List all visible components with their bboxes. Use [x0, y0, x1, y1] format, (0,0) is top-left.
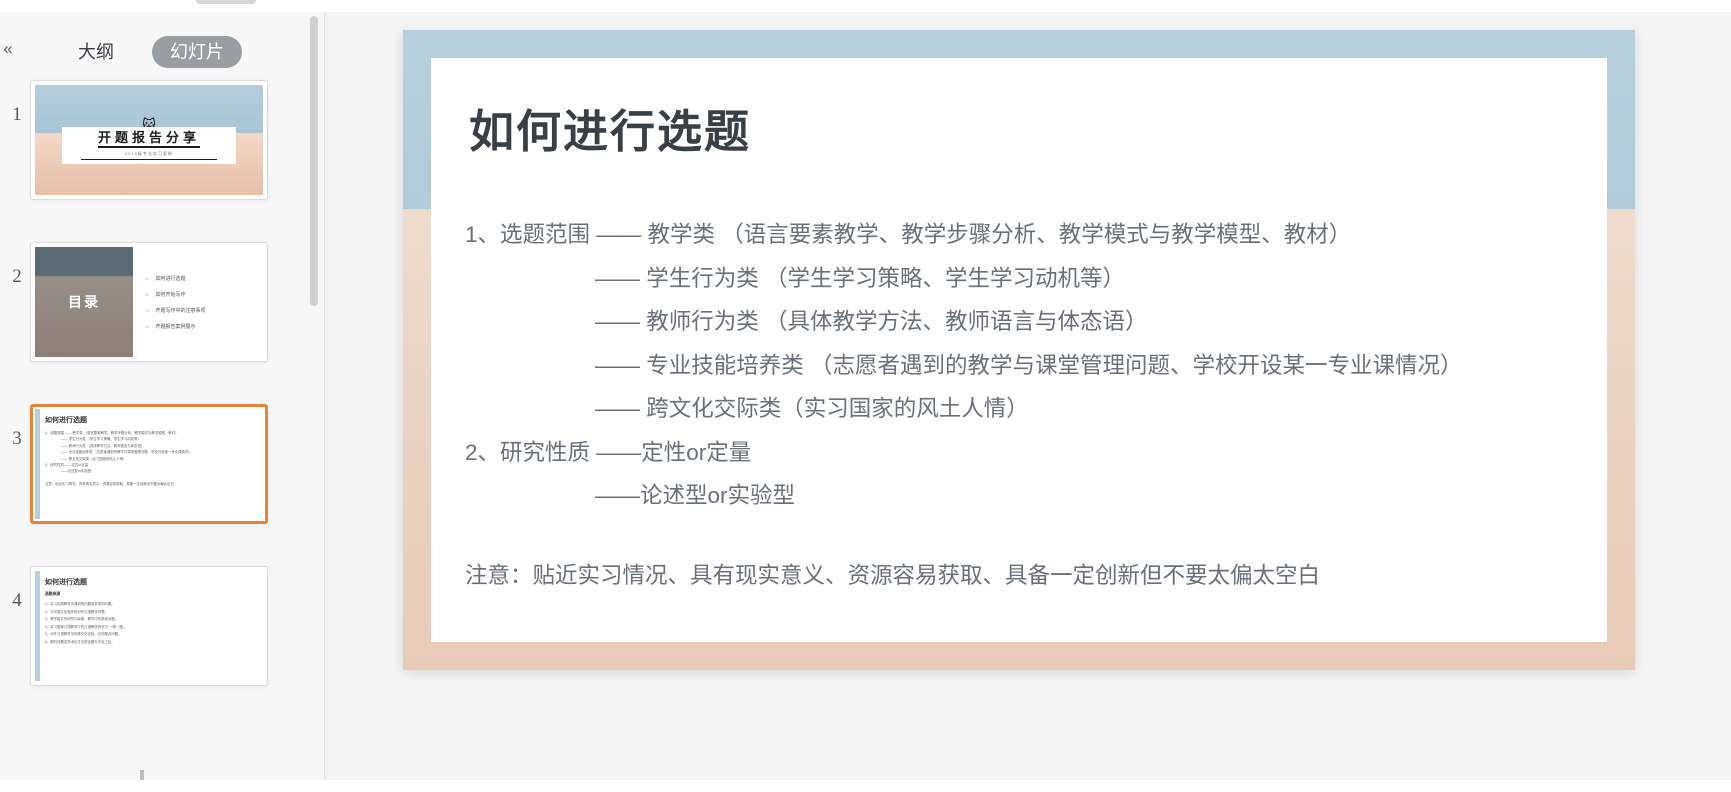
slide-number-4: 4 — [6, 590, 28, 612]
thumb2-left-block: 目录 — [35, 247, 133, 357]
thumb4-title: 如何进行选题 — [45, 577, 257, 587]
body-line: —— 教师行为类 （具体教学方法、教师语言与体态语） — [465, 300, 1587, 344]
body-line: ——论述型or实验型 — [465, 474, 1587, 518]
slide-thumbnail-3[interactable]: 如何进行选题 1、选题范围 —— 教学类 （语言要素教学、教学步骤分析、教学模式… — [30, 404, 268, 524]
panel-bottom-nub — [140, 770, 144, 780]
panel-tab-bar: 大纲 幻灯片 — [60, 36, 242, 68]
thumb4-item: 3、教学模式的研究与探索，教学中的具体问题。 — [45, 616, 257, 624]
panel-scrollbar-thumb[interactable] — [310, 16, 318, 306]
slide-thumbnail-2[interactable]: 目录 01 如何进行选题 02 如何开始写作 03 开题写 — [30, 242, 268, 362]
window-drag-nub — [196, 0, 256, 4]
slide-content-paper: 如何进行选题 1、选题范围 —— 教学类 （语言要素教学、教学步骤分析、教学模式… — [431, 58, 1607, 642]
thumb4-item: 4、实习国家汉语教学中的汉语教学现状与“一带一路”。 — [45, 624, 257, 632]
toc-number: 03 — [145, 308, 149, 313]
thumb3-accent-bar — [35, 409, 40, 519]
body-line: 2、研究性质 ——定性or定量 — [465, 431, 1587, 475]
tab-outline[interactable]: 大纲 — [60, 36, 132, 68]
toc-item: 02 如何开始写作 — [145, 291, 263, 298]
thumb1-title: 开题报告分享 — [98, 130, 200, 148]
toc-label: 开题报告案例展示 — [155, 323, 195, 330]
body-line: —— 跨文化交际类（实习国家的风土人情） — [465, 387, 1587, 431]
slide-number-3: 3 — [6, 428, 28, 450]
body-line: 1、选题范围 —— 教学类 （语言要素教学、教学步骤分析、教学模式与教学模型、教… — [465, 213, 1587, 257]
thumbnail-row-1[interactable]: 1 🐱 开题报告分享 2016级专业实习案例 — [0, 80, 324, 200]
thumb3-title: 如何进行选题 — [45, 415, 257, 425]
collapse-panel-icon[interactable]: « — [0, 38, 19, 60]
thumbnail-row-3[interactable]: 3 如何进行选题 1、选题范围 —— 教学类 （语言要素教学、教学步骤分析、教学… — [0, 404, 324, 524]
thumb4-item: 6、期刊问题或学术论文中的议题与不足之处。 — [45, 639, 257, 647]
body-line: —— 专业技能培养类 （志愿者遇到的教学与课堂管理问题、学校开设某一专业课情况） — [465, 344, 1587, 388]
slide-note: 注意：贴近实习情况、具有现实意义、资源容易获取、具备一定创新但不要太偏太空白 — [465, 558, 1320, 590]
thumb4-item: 1、实习实践教学中遇到的问题或发现的问题。 — [45, 601, 257, 609]
toc-number: 04 — [145, 324, 149, 329]
toc-label: 如何开始写作 — [155, 291, 185, 298]
body-line: —— 学生行为类 （学生学习策略、学生学习动机等） — [465, 257, 1587, 301]
slide-thumbnail-list[interactable]: 1 🐱 开题报告分享 2016级专业实习案例 2 目录 — [0, 72, 324, 792]
tab-slides[interactable]: 幻灯片 — [152, 36, 242, 68]
thumb4-subtitle: 选题来源 — [45, 592, 257, 597]
thumbnail-row-2[interactable]: 2 目录 01 如何进行选题 02 如何开始写作 — [0, 242, 324, 362]
slides-outline-panel: « 大纲 幻灯片 1 🐱 开题报告分享 2016级专业实习案例 — [0, 12, 325, 780]
toc-item: 03 开题写作中的注意事项 — [145, 307, 263, 314]
thumb3-note: 注意：贴近实习情况、具有现实意义、资源容易获取、具备一定创新但不要太偏太空白 — [45, 481, 257, 486]
toc-label: 开题写作中的注意事项 — [155, 307, 205, 314]
thumb1-title-card: 开题报告分享 2016级专业实习案例 — [62, 127, 235, 164]
window-top-strip — [0, 0, 1731, 12]
slide-body: 1、选题范围 —— 教学类 （语言要素教学、教学步骤分析、教学模式与教学模型、教… — [465, 213, 1587, 518]
thumb3-line: ——论述型or实验型 — [45, 468, 257, 474]
slide-number-1: 1 — [6, 104, 28, 126]
toc-item: 01 如何进行选题 — [145, 275, 263, 282]
thumbnail-row-4[interactable]: 4 如何进行选题 选题来源 1、实习实践教学中遇到的问题或发现的问题。 2、与中… — [0, 566, 324, 686]
panel-scrollbar-track[interactable] — [310, 12, 318, 732]
thumb4-item: 2、与中国文化相关的对外汉语教学问题。 — [45, 609, 257, 617]
thumb2-toc-list: 01 如何进行选题 02 如何开始写作 03 开题写作中的注意事项 04 — [133, 247, 263, 357]
current-slide[interactable]: 如何进行选题 1、选题范围 —— 教学类 （语言要素教学、教学步骤分析、教学模式… — [403, 30, 1635, 670]
thumb1-subtitle: 2016级专业实习案例 — [81, 151, 216, 160]
slide-thumbnail-1[interactable]: 🐱 开题报告分享 2016级专业实习案例 — [30, 80, 268, 200]
slide-title: 如何进行选题 — [469, 106, 751, 158]
toc-item: 04 开题报告案例展示 — [145, 323, 263, 330]
slide-number-2: 2 — [6, 266, 28, 288]
toc-number: 01 — [145, 276, 149, 281]
toc-label: 如何进行选题 — [155, 275, 185, 282]
thumb2-title: 目录 — [68, 292, 100, 312]
toc-number: 02 — [145, 292, 149, 297]
slide-thumbnail-4[interactable]: 如何进行选题 选题来源 1、实习实践教学中遇到的问题或发现的问题。 2、与中国文… — [30, 566, 268, 686]
thumb4-item: 5、对外汉语教学中的跨文化交际、文化融合问题。 — [45, 631, 257, 639]
thumb4-accent-bar — [35, 571, 40, 681]
slide-stage: 如何进行选题 1、选题范围 —— 教学类 （语言要素教学、教学步骤分析、教学模式… — [325, 12, 1731, 780]
